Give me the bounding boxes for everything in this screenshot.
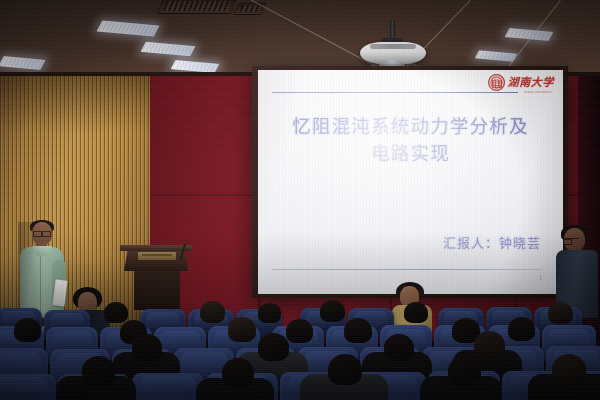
recessed-ceiling-light — [0, 56, 46, 70]
audience-head — [474, 331, 505, 359]
audience-head — [344, 318, 372, 343]
glasses-icon — [33, 231, 51, 235]
university-wordmark-en: HUNAN UNIVERSITY — [524, 91, 553, 94]
audience-head — [384, 334, 414, 361]
university-logo: 湖南大学 — [488, 74, 554, 91]
theater-seat[interactable] — [0, 374, 56, 400]
recessed-ceiling-light — [141, 42, 196, 57]
audience-head — [286, 319, 313, 343]
university-seal-icon — [488, 74, 505, 91]
slide-title: 忆阻混沌系统动力学分析及 电路实现 — [258, 115, 563, 169]
lectern-plaque — [138, 252, 176, 260]
audience-head — [552, 354, 586, 385]
audience-head — [200, 301, 225, 323]
presentation-slide: 湖南大学 HUNAN UNIVERSITY 忆阻混沌系统动力学分析及 电路实现 … — [258, 70, 563, 294]
slide-top-rule — [272, 92, 518, 93]
theater-seat[interactable] — [132, 373, 204, 400]
audience-head — [14, 318, 41, 342]
audience-head — [258, 303, 281, 323]
audience-seating — [0, 300, 600, 400]
audience-head — [328, 354, 362, 385]
university-wordmark-cn: 湖南大学 — [508, 77, 554, 88]
projection-screen[interactable]: 湖南大学 HUNAN UNIVERSITY 忆阻混沌系统动力学分析及 电路实现 … — [258, 70, 563, 294]
slide-title-line-1: 忆阻混沌系统动力学分析及 — [258, 115, 563, 142]
audience-head — [104, 302, 128, 323]
audience-head — [404, 302, 428, 323]
slide-presenter-label: 汇报人：钟晓芸 — [443, 233, 541, 252]
audience-head — [548, 302, 573, 324]
slide-page-number: 1 — [539, 275, 543, 282]
audience-head — [222, 358, 254, 387]
ceiling-wire — [250, 0, 392, 75]
audience-head — [228, 317, 256, 342]
slide-title-line-2: 电路实现 — [258, 142, 563, 169]
glasses-icon — [563, 238, 579, 242]
audience-head — [82, 356, 115, 386]
ac-vent — [157, 0, 237, 14]
audience-head — [320, 300, 345, 322]
slide-bottom-rule — [272, 269, 542, 270]
audience-head — [508, 317, 535, 341]
lecture-hall-photo: 湖南大学 HUNAN UNIVERSITY 忆阻混沌系统动力学分析及 电路实现 … — [0, 0, 600, 400]
recessed-ceiling-light — [475, 50, 517, 61]
audience-head — [258, 333, 289, 361]
recessed-ceiling-light — [96, 20, 159, 36]
audience-head — [132, 334, 162, 361]
audience-head — [448, 356, 481, 386]
